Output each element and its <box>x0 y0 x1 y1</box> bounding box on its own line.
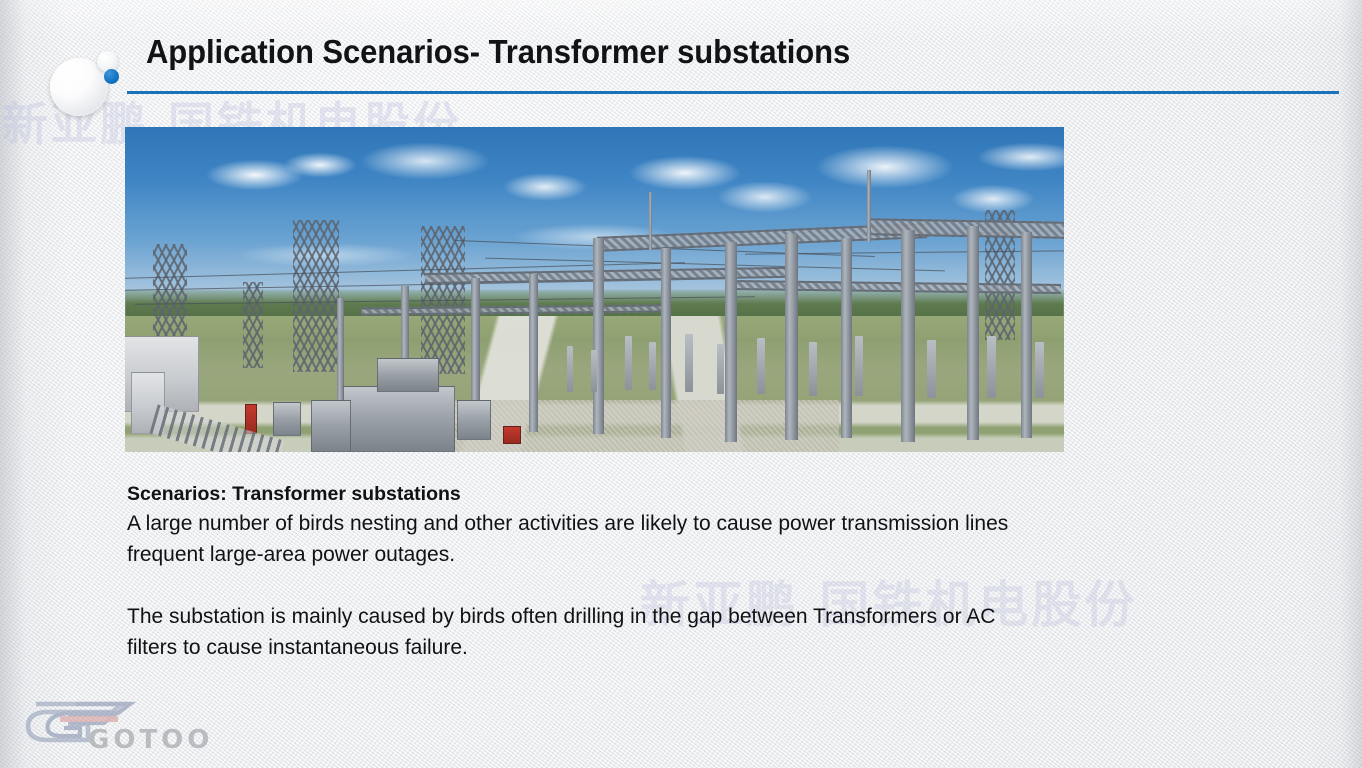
photo-transformer <box>343 386 455 452</box>
photo-support-post <box>593 238 604 434</box>
photo-mast <box>649 192 652 250</box>
photo-support-post <box>785 234 798 440</box>
photo-support-post <box>725 242 737 442</box>
decorative-circles-group <box>46 42 136 120</box>
title-divider <box>127 91 1339 94</box>
photo-insulator <box>649 342 656 390</box>
photo-transmission-tower <box>243 282 263 368</box>
photo-support-post <box>1021 232 1032 438</box>
photo-red-marker <box>503 426 521 444</box>
slide-canvas: 新亚鹏 国铁机电股份 新亚鹏 国铁机电股份 新亚鹏 国铁机电股份 Applica… <box>0 0 1362 768</box>
photo-support-post <box>661 248 671 438</box>
photo-insulator <box>1035 342 1044 398</box>
gotoo-wordmark: GOTOO <box>88 725 213 755</box>
photo-transmission-tower <box>293 220 339 372</box>
photo-support-post <box>529 274 538 432</box>
photo-transformer <box>311 400 351 452</box>
photo-insulator <box>685 334 693 392</box>
photo-insulator <box>757 338 765 394</box>
gotoo-logo: GOTOO <box>18 698 230 760</box>
photo-switchgear-cabinet <box>273 402 301 436</box>
photo-switchgear-cabinet <box>457 400 491 440</box>
photo-support-post <box>967 226 979 440</box>
photo-insulator <box>855 336 863 396</box>
photo-insulator <box>927 340 936 398</box>
body-text-block: Scenarios: Transformer substations A lar… <box>127 480 1027 663</box>
scenario-heading: Scenarios: Transformer substations <box>127 480 1027 508</box>
photo-insulator <box>591 350 597 392</box>
photo-insulator <box>625 336 632 390</box>
photo-insulator <box>987 336 996 398</box>
photo-support-post <box>901 230 915 442</box>
photo-mast <box>867 170 871 242</box>
substation-photo <box>125 127 1064 452</box>
page-title: Application Scenarios- Transformer subst… <box>146 33 850 71</box>
paragraph-2: The substation is mainly caused by birds… <box>127 601 1027 663</box>
photo-steel-structures <box>125 186 1064 453</box>
photo-insulator <box>717 344 724 394</box>
photo-insulator <box>809 342 817 396</box>
decorative-dot-icon <box>104 69 119 84</box>
paragraph-1: A large number of birds nesting and othe… <box>127 508 1027 570</box>
photo-insulator <box>567 346 573 392</box>
photo-transformer <box>377 358 439 392</box>
photo-support-post <box>841 238 852 438</box>
photo-cable-trench <box>149 404 284 452</box>
